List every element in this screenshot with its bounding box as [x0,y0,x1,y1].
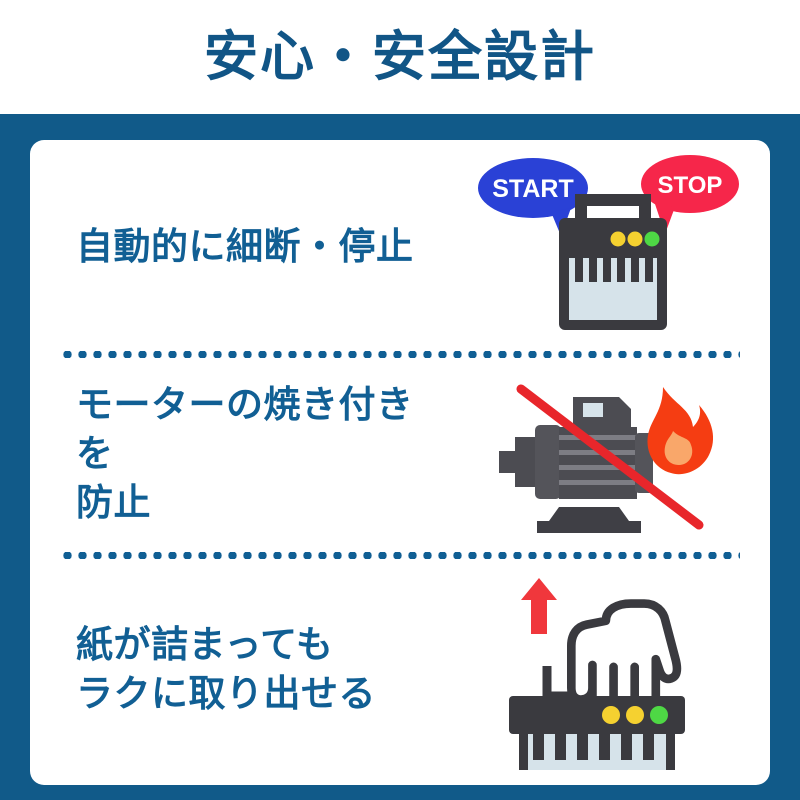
blue-frame: 自動的に細断・停止 START [0,114,800,800]
feature-label-line: 自動的に細断・停止 [76,223,450,272]
led-indicator-lights [602,706,668,724]
feature-icon-auto-shred-stop: START STOP [450,140,770,354]
motor-no-fire-icon [495,375,725,535]
shredder-start-stop-icon: START STOP [475,152,745,342]
motor-end-bell [535,425,561,499]
feature-label-motor-burnout-prevention: モーターの焼き付きを 防止 [30,381,450,527]
feature-row-motor-burnout-prevention: モーターの焼き付きを 防止 [30,354,770,555]
feature-label-easy-paper-jam-removal: 紙が詰まっても ラクに取り出せる [30,621,450,719]
shredder-basket [519,734,675,770]
feature-icon-easy-paper-jam-removal [450,555,770,785]
shredder-body [559,218,667,330]
led-yellow-2 [628,232,643,247]
led-green [645,232,660,247]
led-yellow-1 [611,232,626,247]
feature-label-line: モーターの焼き付きを [76,381,450,479]
feature-row-auto-shred-stop: 自動的に細断・停止 START [30,140,770,354]
infographic-page: 安心・安全設計 自動的に細断・停止 START [0,0,800,800]
feature-label-auto-shred-stop: 自動的に細断・停止 [30,223,450,272]
hand-pull-paper-shredder-icon [495,570,725,770]
led-yellow-1 [602,706,620,724]
page-title-bar: 安心・安全設計 [0,0,800,114]
feature-label-line: 紙が詰まっても [76,621,450,670]
up-arrow-icon [521,578,557,634]
led-green [650,706,668,724]
flame-icon [647,387,713,474]
feature-row-easy-paper-jam-removal: 紙が詰まっても ラクに取り出せる [30,555,770,785]
feature-label-line: 防止 [76,479,450,528]
feature-label-line: ラクに取り出せる [76,670,450,719]
motor-shaft [499,437,537,487]
motor-housing [559,427,637,499]
led-indicator-lights [611,232,660,247]
motor-terminal-box [573,397,631,427]
feature-icon-motor-burnout-prevention [450,354,770,555]
hand-icon [571,604,677,712]
motor-base [537,507,641,533]
stop-bubble-label: STOP [658,172,723,199]
page-title: 安心・安全設計 [204,30,596,84]
feature-panel: 自動的に細断・停止 START [30,140,770,785]
led-yellow-2 [626,706,644,724]
start-bubble-label: START [492,175,573,203]
